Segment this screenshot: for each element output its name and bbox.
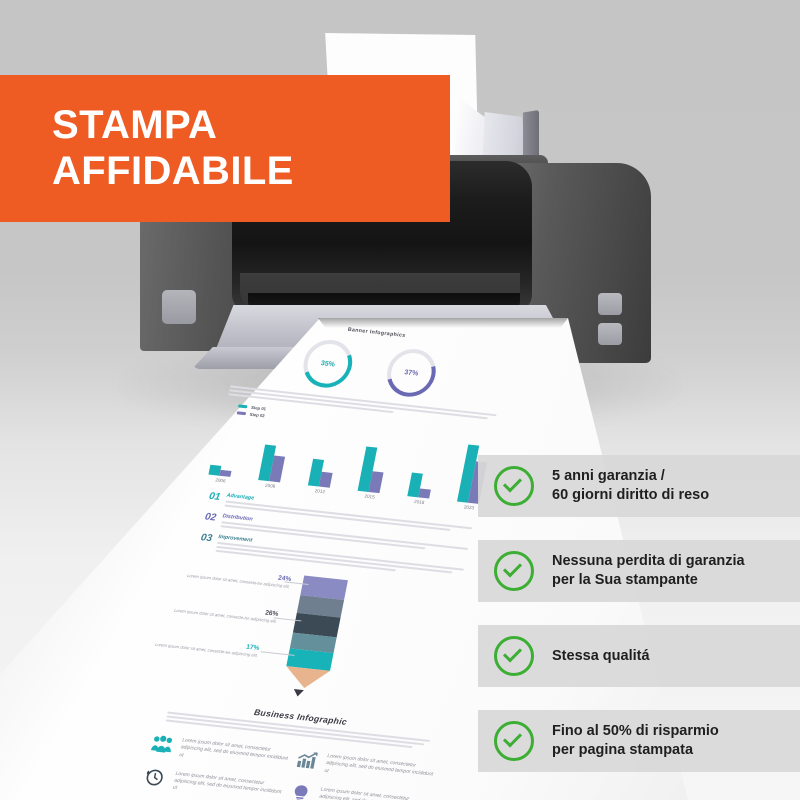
icon-feature-text: Lorem ipsum dolor sit amet, consectetur … [179, 737, 291, 770]
feature-line-2: 60 giorni diritto di reso [552, 486, 709, 505]
bar-group [206, 417, 247, 477]
feature-text: Fino al 50% di risparmio per pagina stam… [552, 722, 719, 759]
promo-image: Banner Infographics 35% 37% Step 01 [0, 0, 800, 800]
icon-feature-text: Lorem ipsum dolor sit amet, consectetur … [317, 786, 429, 800]
check-circle-icon [494, 721, 534, 761]
feature-line-2: per pagina stampata [552, 741, 719, 760]
donut-chart-2: 37% [383, 347, 440, 399]
x-tick: 2006 [205, 476, 236, 484]
feature-text: 5 anni garanzia / 60 giorni diritto di r… [552, 467, 709, 504]
feature-item-warranty: 5 anni garanzia / 60 giorni diritto di r… [478, 455, 800, 517]
x-tick: 2012 [305, 487, 336, 495]
list-item-number: 03 [191, 531, 213, 544]
check-circle-icon [494, 466, 534, 506]
bar-group [405, 439, 446, 499]
pencil-graphic [282, 575, 348, 690]
feature-text: Stessa qualitá [552, 647, 650, 666]
feature-line-1: Stessa qualitá [552, 647, 650, 666]
clock-icon [143, 767, 168, 787]
donut-chart-1: 35% [299, 338, 356, 390]
list-item-number: 01 [199, 490, 221, 503]
x-tick: 2018 [404, 498, 435, 506]
legend-label-step-02: Step 02 [249, 412, 265, 419]
feature-line-2: per la Sua stampante [552, 571, 745, 590]
legend-label-step-01: Step 01 [251, 405, 267, 412]
feature-line-1: Nessuna perdita di garanzia [552, 552, 745, 571]
feature-list: 5 anni garanzia / 60 giorni diritto di r… [478, 455, 800, 795]
list-item-number: 02 [195, 511, 217, 524]
donut-value-2: 37% [383, 347, 440, 399]
check-circle-icon [494, 551, 534, 591]
check-circle-icon [494, 636, 534, 676]
feature-item-savings: Fino al 50% di risparmio per pagina stam… [478, 710, 800, 772]
printer-button-1 [598, 293, 622, 315]
feature-text: Nessuna perdita di garanzia per la Sua s… [552, 552, 745, 589]
bar-group [256, 423, 297, 483]
feature-line-1: 5 anni garanzia / [552, 467, 709, 486]
headline-line-2: AFFIDABILE [52, 149, 450, 195]
x-tick: 2015 [354, 493, 385, 501]
people-icon [149, 734, 174, 754]
x-tick: 2009 [255, 482, 286, 490]
down-arrow-icon [293, 689, 304, 697]
bar-group [306, 428, 347, 488]
lightbulb-icon [288, 783, 313, 800]
funnel-callout-2: 26% Lorem ipsum dolor sit amet, consecte… [167, 599, 279, 624]
feature-item-same-quality: Stessa qualitá [478, 625, 800, 687]
funnel-callout-3: 17% Lorem ipsum dolor sit amet, consecte… [148, 633, 260, 658]
legend-swatch-step-02 [237, 411, 247, 415]
printer-power-button [162, 290, 196, 324]
headline-line-1: STAMPA [52, 103, 450, 149]
bar-group [356, 433, 397, 493]
printer-button-2 [598, 323, 622, 345]
funnel-callout-1: 24% Lorem ipsum dolor sit amet, consecte… [180, 564, 292, 589]
icon-feature-text: Lorem ipsum dolor sit amet, consectetur … [324, 753, 436, 786]
legend-swatch-step-01 [238, 404, 248, 408]
bar-chart-icon [295, 750, 320, 770]
feature-item-no-warranty-loss: Nessuna perdita di garanzia per la Sua s… [478, 540, 800, 602]
headline-banner: STAMPA AFFIDABILE [0, 75, 450, 222]
donut-value-1: 35% [299, 338, 356, 390]
feature-line-1: Fino al 50% di risparmio [552, 722, 719, 741]
